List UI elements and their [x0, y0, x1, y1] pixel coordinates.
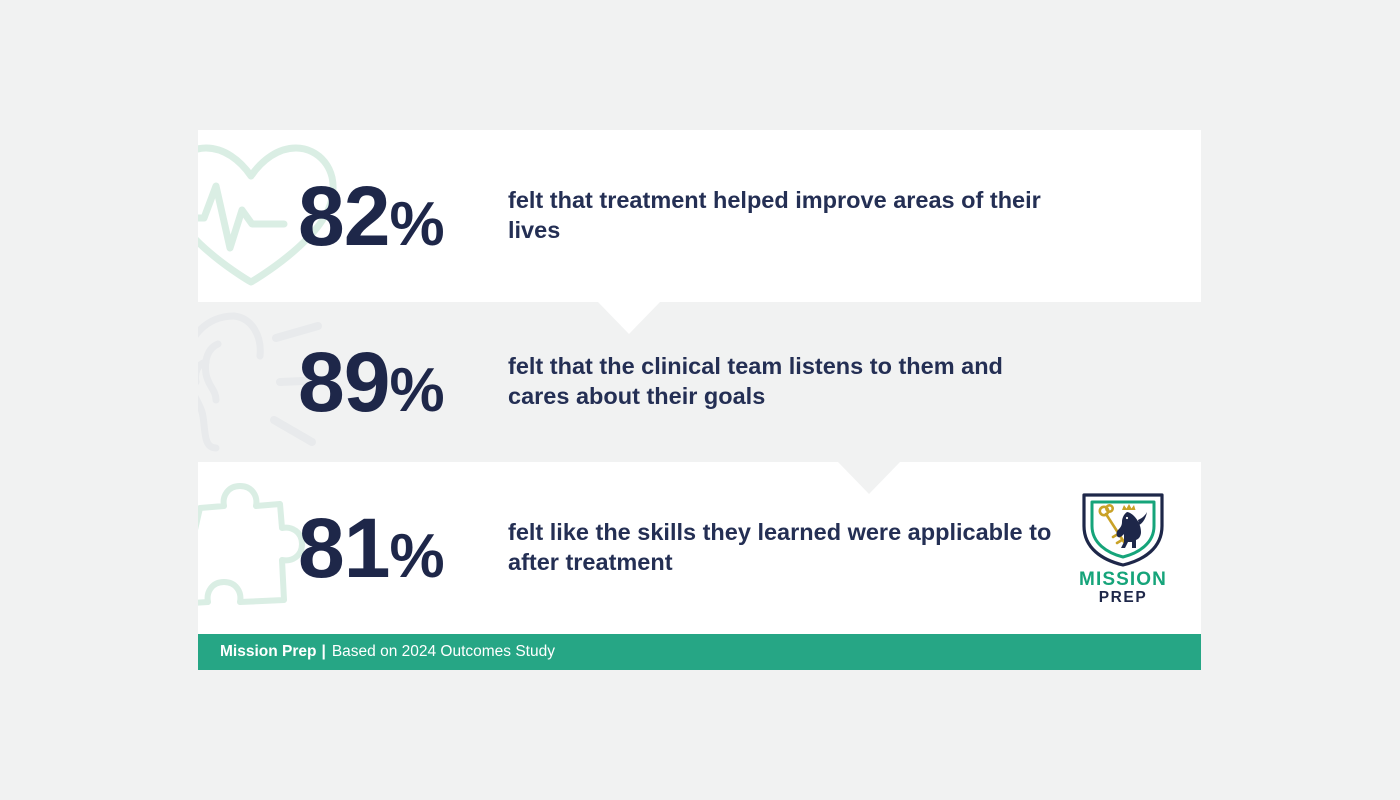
stat-description-1: felt that treatment helped improve areas…	[508, 186, 1068, 246]
stat-description-2: felt that the clinical team listens to t…	[508, 352, 1068, 412]
logo-wordmark-prep: PREP	[1071, 589, 1175, 606]
footer-source-text: Based on 2024 Outcomes Study	[332, 643, 555, 661]
stat-description-3: felt like the skills they learned were a…	[508, 518, 1068, 578]
card-connector-notch-1	[598, 302, 660, 334]
footer-separator: |	[321, 643, 325, 661]
mission-prep-logo: MISSION PREP	[1071, 490, 1175, 607]
stat-value-3: 81%	[298, 506, 508, 590]
logo-wordmark-mission: MISSION	[1071, 570, 1175, 590]
outcomes-infographic: 82% felt that treatment helped improve a…	[198, 130, 1201, 670]
footer-source-bar: Mission Prep | Based on 2024 Outcomes St…	[198, 634, 1201, 670]
shield-lion-key-icon	[1080, 490, 1166, 568]
stat-card-1: 82% felt that treatment helped improve a…	[198, 130, 1201, 302]
stat-card-3: 81% felt like the skills they learned we…	[198, 462, 1201, 634]
stat-card-2: 89% felt that the clinical team listens …	[198, 302, 1201, 462]
footer-brand: Mission Prep	[220, 643, 316, 661]
stat-value-1: 82%	[298, 174, 508, 258]
stat-value-2: 89%	[298, 340, 508, 424]
card-connector-notch-2	[838, 462, 900, 494]
